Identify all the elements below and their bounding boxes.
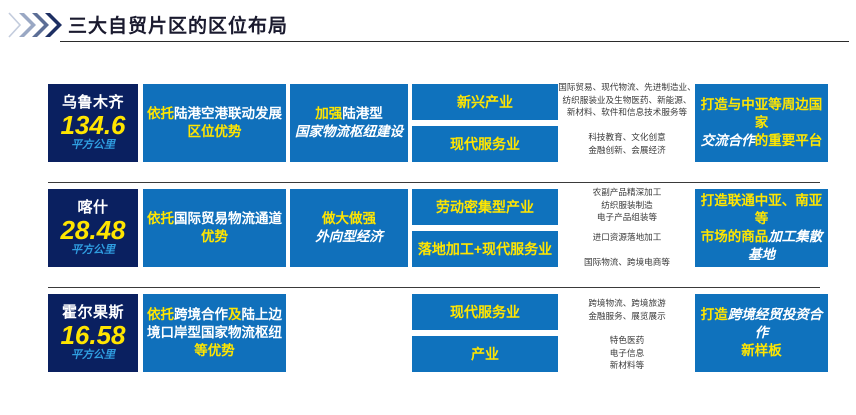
advantage-part3: 优势 [201, 229, 228, 244]
advantage-part1: 依托 [147, 211, 174, 226]
strategy-box[interactable]: 做大做强外向型经济 [290, 189, 408, 267]
strategy-part3: 国家物流枢纽建设 [295, 124, 403, 139]
industry-tag-box[interactable]: 现代服务业 [412, 294, 558, 330]
page-title: 三大自贸片区的区位布局 [68, 11, 288, 38]
industry-tag-box[interactable]: 新兴产业 [412, 84, 558, 120]
goal-text: 打造联通中亚、南亚等市场的商品加工集散基地 [695, 192, 828, 265]
advantage-part3: 及 [228, 307, 242, 322]
strategy-part1: 加强 [315, 106, 342, 121]
strategy-text: 做大做强外向型经济 [315, 210, 383, 246]
goal-part3: 的重要平台 [755, 133, 823, 148]
industry-note: 特色医药 电子信息 新材料等 [546, 334, 708, 374]
advantage-part2: 跨境合作 [174, 307, 228, 322]
goal-part2: 交流合作 [701, 133, 755, 148]
goal-box[interactable]: 打造与中亚等周边国家交流合作的重要平台 [695, 84, 828, 162]
advantage-part1: 依托 [147, 106, 174, 121]
advantage-part1: 依托 [147, 307, 174, 322]
city-area-value: 16.58 [60, 322, 125, 348]
advantage-box[interactable]: 依托陆港空港联动发展区位优势 [143, 84, 286, 162]
double-chevron-icon [8, 12, 64, 38]
goal-part1: 打造 [701, 307, 728, 322]
goal-box[interactable]: 打造跨境经贸投资合作新样板 [695, 294, 828, 372]
advantage-box[interactable]: 依托跨境合作及陆上边境口岸型国家物流枢纽等优势 [143, 294, 286, 372]
advantage-text: 依托跨境合作及陆上边境口岸型国家物流枢纽等优势 [143, 306, 286, 361]
goal-text: 打造与中亚等周边国家交流合作的重要平台 [695, 96, 828, 151]
strategy-box[interactable]: 加强陆港型国家物流枢纽建设 [290, 84, 408, 162]
advantage-text: 依托国际贸易物流通道优势 [147, 210, 282, 246]
industry-tag-label: 新兴产业 [457, 93, 513, 111]
advantage-part2: 陆港空港联动发展 [174, 106, 282, 121]
industry-note: 农副产品精深加工 纺织服装制造 电子产品组装等 [546, 186, 708, 226]
industry-note: 国际贸易、现代物流、先进制造业、 纺织服装业及生物医药、新能源、 新材料、软件和… [546, 81, 708, 121]
title-divider [60, 41, 849, 42]
table-row: 乌鲁木齐 134.6 平方公里 依托陆港空港联动发展区位优势 加强陆港型国家物流… [0, 48, 856, 168]
city-box[interactable]: 霍尔果斯 16.58 平方公里 [48, 294, 138, 372]
city-area-value: 134.6 [60, 112, 125, 138]
industry-tag-label: 现代服务业 [450, 303, 520, 321]
city-box[interactable]: 乌鲁木齐 134.6 平方公里 [48, 84, 138, 162]
strategy-part3: 外向型经济 [315, 229, 383, 244]
city-name: 喀什 [77, 200, 108, 215]
goal-part1: 打造与中亚等周边国家 [701, 97, 823, 130]
industry-tag-label: 劳动密集型产业 [436, 198, 534, 216]
industry-note: 跨境物流、跨境旅游 金融服务、展览展示 [546, 294, 708, 328]
advantage-part2: 国际贸易物流通道 [174, 211, 282, 226]
page-header: 三大自贸片区的区位布局 [0, 0, 856, 48]
city-area-value: 28.48 [60, 217, 125, 243]
industry-tag-label: 落地加工+现代服务业 [418, 240, 552, 258]
goal-part2: 跨境经贸投资合作 [728, 307, 823, 340]
advantage-text: 依托陆港空港联动发展区位优势 [147, 105, 282, 141]
city-area-unit: 平方公里 [71, 245, 115, 256]
goal-part3: 新样板 [741, 343, 782, 358]
goal-part2: 市场的商品 [701, 229, 769, 244]
strategy-part2: 陆港型 [342, 106, 383, 121]
industry-tag-label: 现代服务业 [450, 135, 520, 153]
table-row: 喀什 28.48 平方公里 依托国际贸易物流通道优势 做大做强外向型经济 劳动密… [0, 153, 856, 273]
advantage-part5: 等优势 [194, 343, 235, 358]
layout-grid: 乌鲁木齐 134.6 平方公里 依托陆港空港联动发展区位优势 加强陆港型国家物流… [0, 48, 856, 415]
goal-part1: 打造联通中亚、南亚等 [701, 193, 823, 226]
city-box[interactable]: 喀什 28.48 平方公里 [48, 189, 138, 267]
advantage-box[interactable]: 依托国际贸易物流通道优势 [143, 189, 286, 267]
goal-box[interactable]: 打造联通中亚、南亚等市场的商品加工集散基地 [695, 189, 828, 267]
city-area-unit: 平方公里 [71, 140, 115, 151]
city-name: 乌鲁木齐 [62, 95, 124, 110]
strategy-text: 加强陆港型国家物流枢纽建设 [295, 105, 403, 141]
industry-tag-box[interactable]: 劳动密集型产业 [412, 189, 558, 225]
industry-tag-box[interactable]: 产业 [412, 336, 558, 372]
goal-text: 打造跨境经贸投资合作新样板 [695, 306, 828, 361]
table-row: 霍尔果斯 16.58 平方公里 依托跨境合作及陆上边境口岸型国家物流枢纽等优势 … [0, 258, 856, 378]
city-name: 霍尔果斯 [62, 305, 124, 320]
industry-tag-label: 产业 [471, 345, 499, 363]
city-area-unit: 平方公里 [71, 350, 115, 361]
strategy-part1: 做大做强 [322, 211, 376, 226]
advantage-part3: 区位优势 [188, 124, 242, 139]
